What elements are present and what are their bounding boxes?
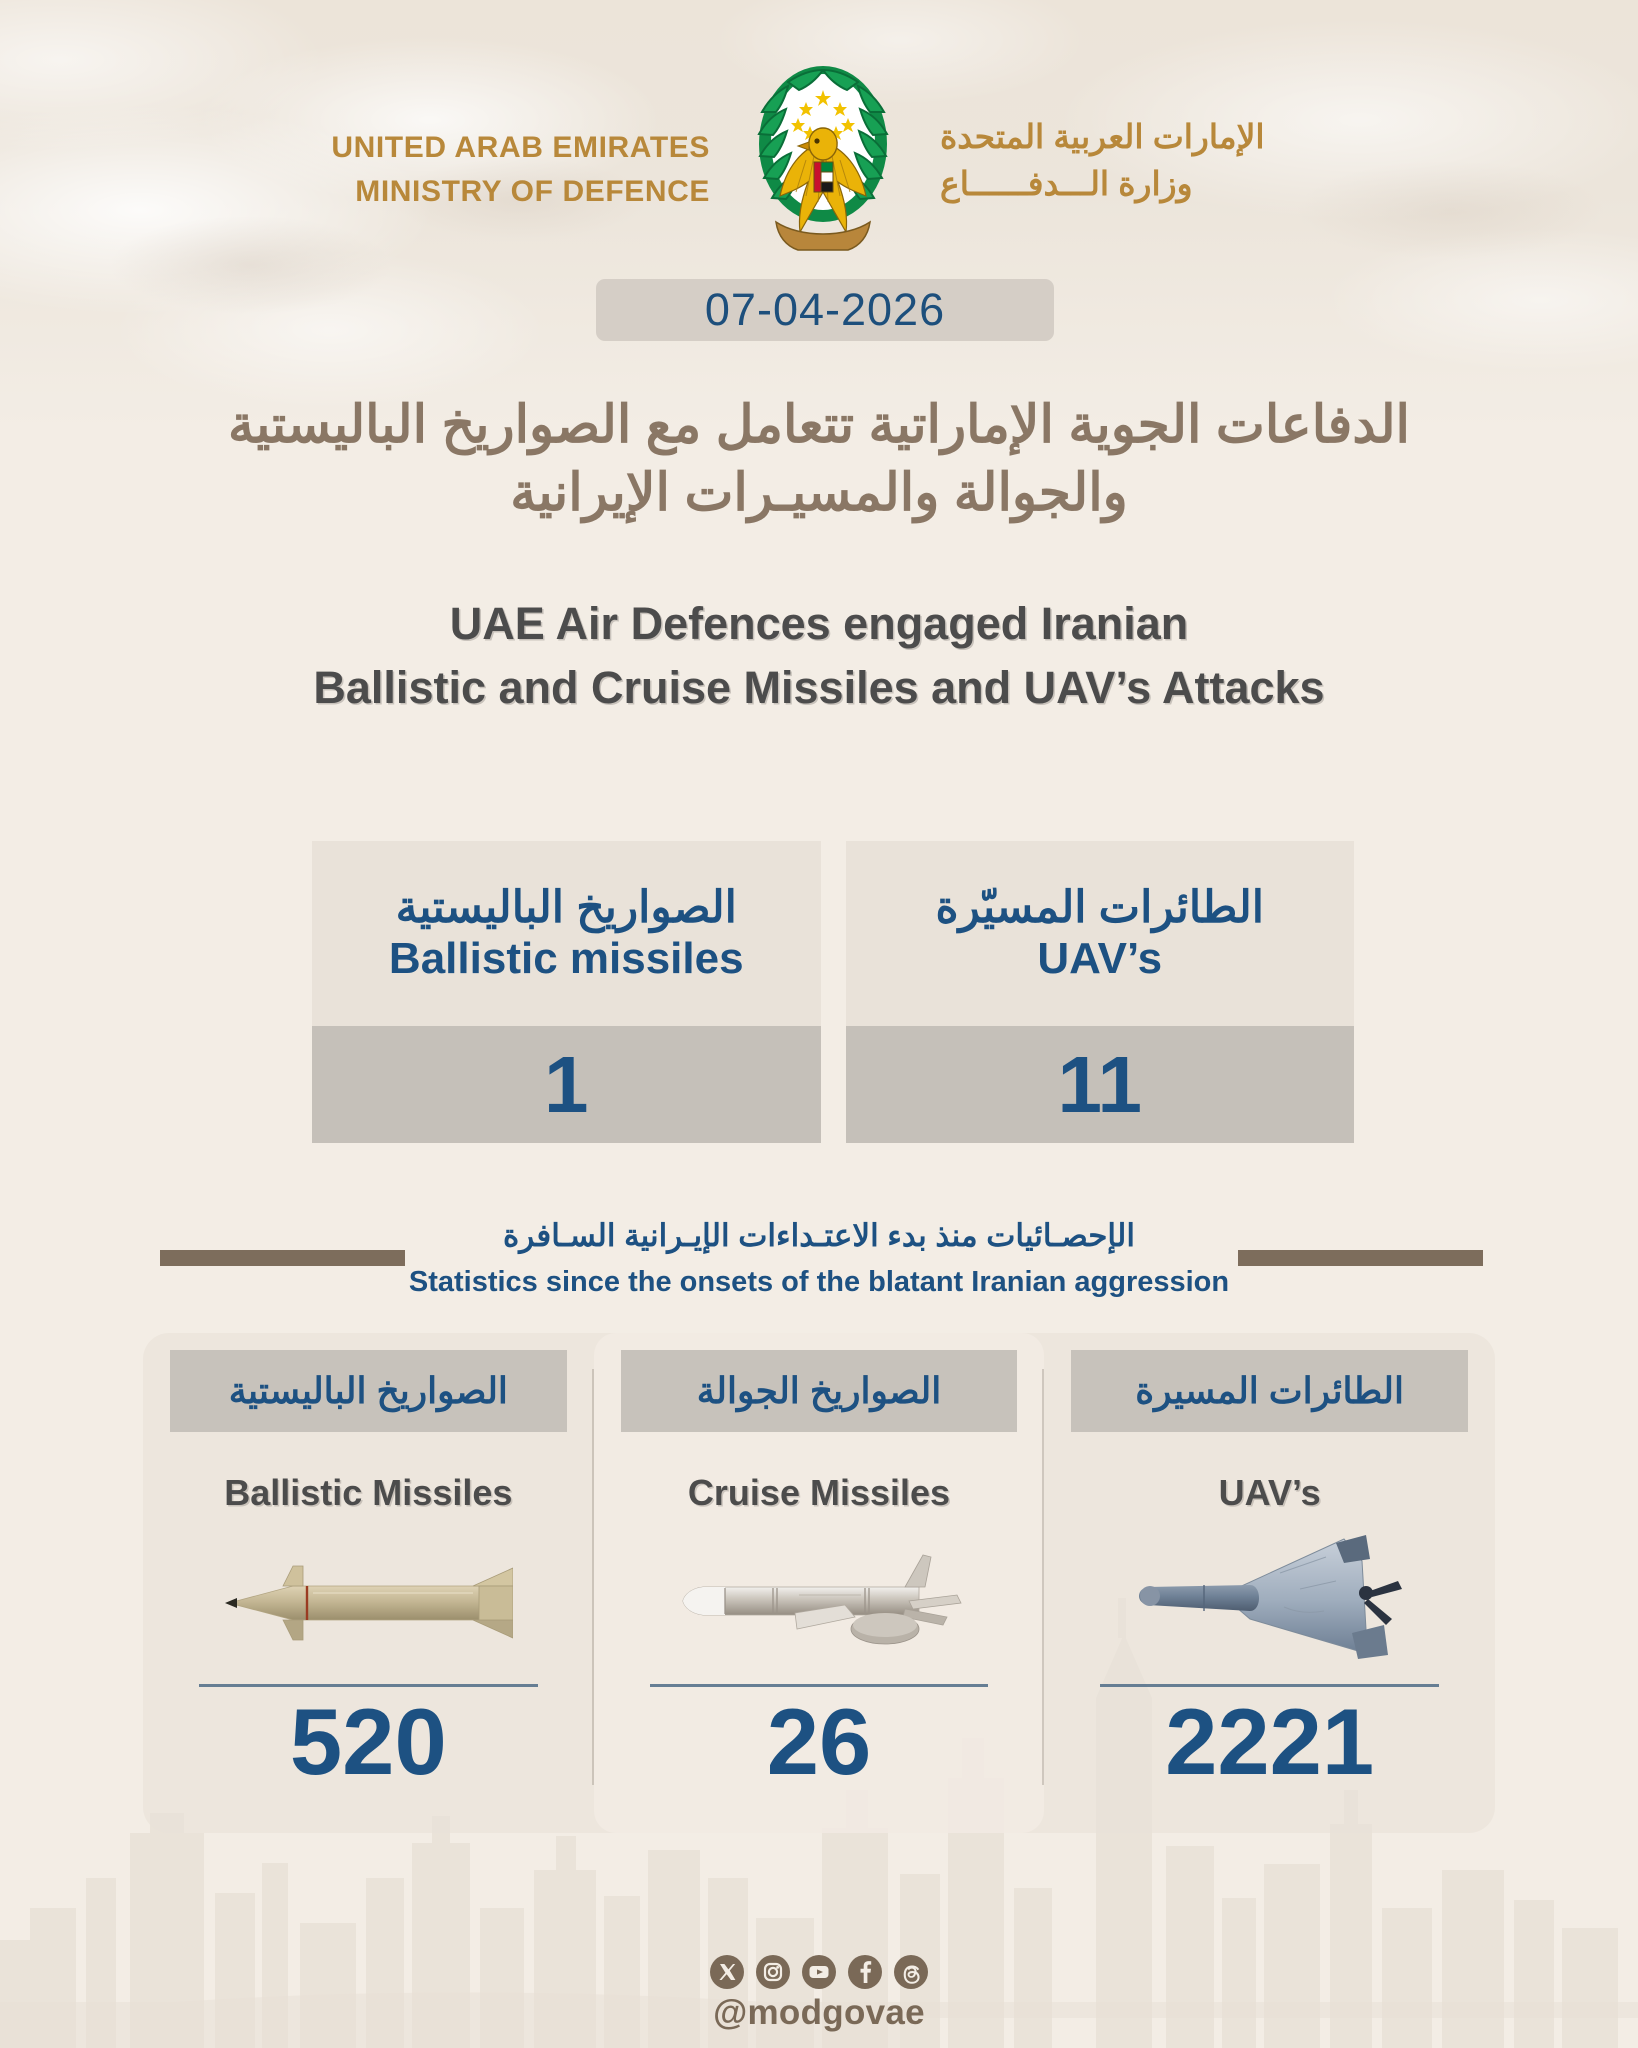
headline-english-line1: UAE Air Defences engaged Iranian [110, 592, 1528, 656]
daily-stat-uav-header: الطائرات المسيّرة UAV’s [846, 841, 1355, 1026]
headline-english-line2: Ballistic and Cruise Missiles and UAV’s … [110, 656, 1528, 720]
cumulative-card-uav-rule [1100, 1684, 1439, 1687]
cumulative-card-ballistic-header: الصواريخ الباليستية [170, 1350, 567, 1432]
cumulative-card-uav-label-arabic: الطائرات المسيرة [1135, 1370, 1404, 1412]
daily-stat-uav-label-english: UAV’s [1037, 935, 1162, 983]
cumulative-card-cruise-label-english: Cruise Missiles [594, 1472, 1045, 1514]
daily-stats-group: الطائرات المسيّرة UAV’s 11 الصواريخ البا… [312, 841, 1354, 1143]
cumulative-card-uav-header: الطائرات المسيرة [1071, 1350, 1468, 1432]
cumulative-stats-group: الطائرات المسيرة UAV’s [143, 1333, 1495, 1833]
daily-stat-ballistic-label-arabic: الصواريخ الباليستية [396, 884, 737, 932]
uav-drone-icon [1044, 1528, 1495, 1678]
cumulative-card-cruise-rule [650, 1684, 989, 1687]
social-links [0, 1955, 1638, 1989]
cumulative-card-uav-value: 2221 [1044, 1689, 1495, 1794]
daily-stat-ballistic: الصواريخ الباليستية Ballistic missiles 1 [312, 841, 821, 1143]
cumulative-card-uav: الطائرات المسيرة UAV’s [1044, 1333, 1495, 1833]
daily-stat-ballistic-header: الصواريخ الباليستية Ballistic missiles [312, 841, 821, 1026]
daily-stat-ballistic-value: 1 [312, 1026, 821, 1143]
headline-arabic: الدفاعات الجوية الإماراتية تتعامل مع الص… [150, 392, 1488, 527]
date-badge: 07-04-2026 [596, 279, 1054, 341]
page-header: UNITED ARAB EMIRATES MINISTRY OF DEFENCE [0, 48, 1638, 258]
header-arabic-line1: الإمارات العربية المتحدة [940, 114, 1460, 161]
header-arabic-line2: وزارة الـــدفــــــاع [940, 161, 1460, 208]
cumulative-card-uav-label-english: UAV’s [1044, 1472, 1495, 1514]
header-english-line2: MINISTRY OF DEFENCE [180, 170, 710, 214]
threads-icon[interactable] [894, 1955, 928, 1989]
headline-english: UAE Air Defences engaged Iranian Ballist… [110, 592, 1528, 720]
daily-stat-ballistic-label-english: Ballistic missiles [389, 935, 744, 983]
cruise-missile-icon [594, 1528, 1045, 1678]
ballistic-missile-icon [143, 1528, 594, 1678]
social-handle: @modgovae [0, 1993, 1638, 2033]
daily-stat-uav-value: 11 [846, 1026, 1355, 1143]
uae-falcon-emblem [728, 56, 918, 261]
cumulative-card-cruise-label-arabic: الصواريخ الجوالة [697, 1370, 942, 1412]
header-english-line1: UNITED ARAB EMIRATES [180, 126, 710, 170]
instagram-icon[interactable] [756, 1955, 790, 1989]
ministry-name-english: UNITED ARAB EMIRATES MINISTRY OF DEFENCE [180, 126, 710, 214]
section-title-english: Statistics since the onsets of the blata… [319, 1266, 1319, 1299]
ministry-name-arabic: الإمارات العربية المتحدة وزارة الـــدفــ… [940, 114, 1460, 208]
youtube-icon[interactable] [802, 1955, 836, 1989]
cumulative-card-ballistic: الصواريخ الباليستية Ballistic Missiles [143, 1333, 594, 1833]
cumulative-card-ballistic-value: 520 [143, 1689, 594, 1794]
facebook-icon[interactable] [848, 1955, 882, 1989]
x-icon[interactable] [710, 1955, 744, 1989]
daily-stat-uav-label-arabic: الطائرات المسيّرة [936, 884, 1264, 932]
cumulative-card-cruise: الصواريخ الجوالة Cruise Missiles [594, 1333, 1045, 1833]
section-title-arabic: الإحصـائيات منذ بدء الاعتـداءات الإيـران… [319, 1218, 1319, 1254]
page-footer: @modgovae [0, 1955, 1638, 2033]
cumulative-card-cruise-header: الصواريخ الجوالة [621, 1350, 1018, 1432]
cumulative-card-ballistic-rule [199, 1684, 538, 1687]
section-divider: الإحصـائيات منذ بدء الاعتـداءات الإيـران… [0, 1218, 1638, 1328]
infographic-poster: UNITED ARAB EMIRATES MINISTRY OF DEFENCE [0, 0, 1638, 2048]
cumulative-card-ballistic-label-arabic: الصواريخ الباليستية [229, 1370, 508, 1412]
cumulative-card-ballistic-label-english: Ballistic Missiles [143, 1472, 594, 1514]
cumulative-card-cruise-value: 26 [594, 1689, 1045, 1794]
daily-stat-uav: الطائرات المسيّرة UAV’s 11 [846, 841, 1355, 1143]
